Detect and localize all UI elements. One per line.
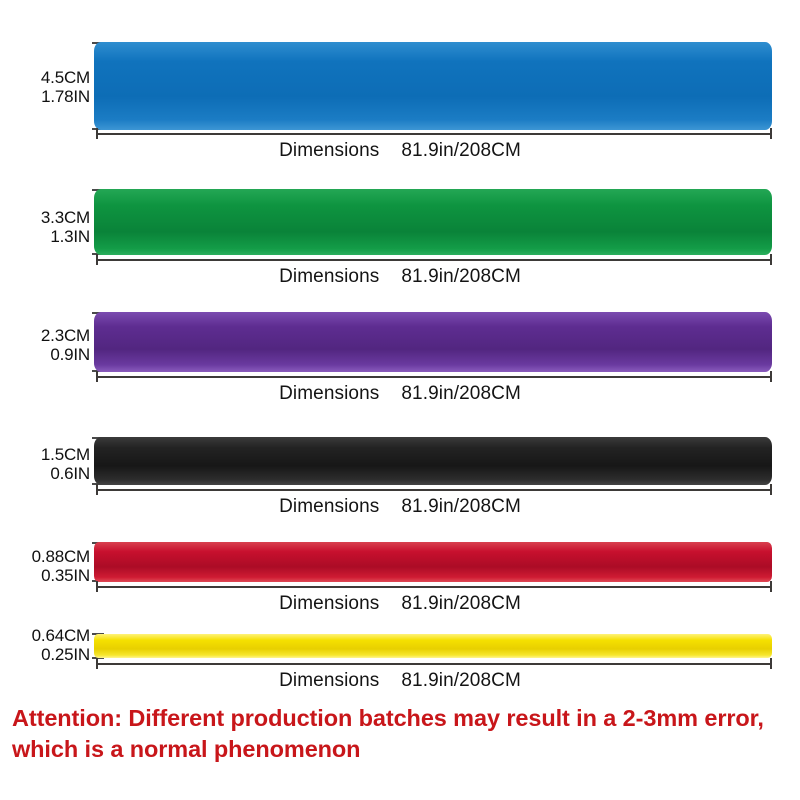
thickness-in-yellow: 0.25IN [10,645,90,664]
length-label: Dimensions [279,670,379,691]
length-value: 81.9in/208CM [401,593,521,614]
dimension-tick-right [770,128,772,139]
length-caption-purple: Dimensions81.9in/208CM [0,383,800,405]
dimension-tick-left [96,371,98,382]
dimension-tick-right [770,581,772,592]
thickness-in-green: 1.3IN [10,227,90,246]
thickness-in-blue: 1.78IN [10,87,90,106]
thickness-label-blue: 4.5CM 1.78IN [10,68,90,106]
length-dimension-line-yellow [96,658,772,669]
length-value: 81.9in/208CM [401,140,521,161]
thickness-in-black: 0.6IN [10,464,90,483]
dimension-tick-left [96,658,98,669]
band-black [94,437,772,485]
resistance-band-dimensions-infographic: 4.5CM 1.78IN Dimensions81.9in/208CM 3.3C… [0,0,800,800]
thickness-cm-yellow: 0.64CM [10,626,90,645]
dimension-tick-right [770,371,772,382]
thickness-label-red: 0.88CM 0.35IN [10,547,90,585]
dimension-tick-left [96,128,98,139]
length-label: Dimensions [279,140,379,161]
dimension-rule [96,259,772,261]
dimension-rule [96,489,772,491]
length-value: 81.9in/208CM [401,383,521,404]
thickness-cm-black: 1.5CM [10,445,90,464]
dimension-tick-left [96,254,98,265]
band-purple [94,312,772,372]
thickness-cm-blue: 4.5CM [10,68,90,87]
thickness-label-yellow: 0.64CM 0.25IN [10,626,90,664]
length-dimension-line-red [96,581,772,592]
band-group-black: 1.5CM 0.6IN Dimensions81.9in/208CM [0,413,800,523]
dimension-tick-right [770,484,772,495]
band-group-blue: 4.5CM 1.78IN Dimensions81.9in/208CM [0,0,800,175]
band-group-red: 0.88CM 0.35IN Dimensions81.9in/208CM [0,523,800,628]
thickness-cm-purple: 2.3CM [10,326,90,345]
thickness-label-black: 1.5CM 0.6IN [10,445,90,483]
dimension-tick-left [96,581,98,592]
length-caption-red: Dimensions81.9in/208CM [0,593,800,615]
length-caption-green: Dimensions81.9in/208CM [0,266,800,288]
length-caption-yellow: Dimensions81.9in/208CM [0,670,800,692]
dimension-tick-right [770,658,772,669]
dimension-rule [96,663,772,665]
attention-note: Attention: Different production batches … [12,703,792,765]
band-green [94,189,772,255]
dimension-tick-left [96,484,98,495]
length-value: 81.9in/208CM [401,266,521,287]
band-group-green: 3.3CM 1.3IN Dimensions81.9in/208CM [0,175,800,295]
length-label: Dimensions [279,593,379,614]
band-yellow [94,634,772,658]
length-label: Dimensions [279,383,379,404]
length-label: Dimensions [279,496,379,517]
thickness-in-red: 0.35IN [10,566,90,585]
band-group-yellow: 0.64CM 0.25IN Dimensions81.9in/208CM [0,628,800,703]
thickness-cm-red: 0.88CM [10,547,90,566]
dimension-rule [96,376,772,378]
length-caption-black: Dimensions81.9in/208CM [0,496,800,518]
band-red [94,542,772,582]
dimension-rule [96,586,772,588]
length-dimension-line-black [96,484,772,495]
thickness-cm-green: 3.3CM [10,208,90,227]
length-value: 81.9in/208CM [401,670,521,691]
band-group-purple: 2.3CM 0.9IN Dimensions81.9in/208CM [0,295,800,413]
thickness-label-purple: 2.3CM 0.9IN [10,326,90,364]
length-dimension-line-blue [96,128,772,139]
length-dimension-line-green [96,254,772,265]
band-blue [94,42,772,130]
length-dimension-line-purple [96,371,772,382]
thickness-in-purple: 0.9IN [10,345,90,364]
dimension-tick-right [770,254,772,265]
length-label: Dimensions [279,266,379,287]
dimension-rule [96,133,772,135]
length-value: 81.9in/208CM [401,496,521,517]
length-caption-blue: Dimensions81.9in/208CM [0,140,800,162]
thickness-label-green: 3.3CM 1.3IN [10,208,90,246]
